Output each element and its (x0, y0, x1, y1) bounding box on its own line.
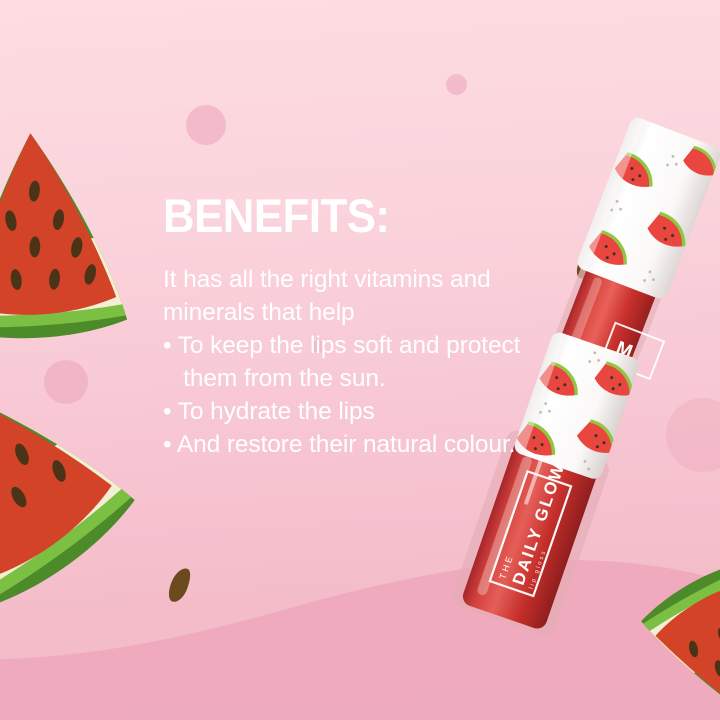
benefit-line: minerals that help (163, 296, 563, 329)
benefits-poster: M (0, 0, 720, 720)
decorative-circle-2 (446, 74, 467, 95)
benefit-line: • To keep the lips soft and protect (163, 329, 563, 362)
copy-block: BENEFITS: It has all the right vitamins … (163, 192, 563, 461)
benefit-line: them from the sun. (163, 362, 563, 395)
benefits-list: It has all the right vitamins and minera… (163, 263, 563, 461)
page-title: BENEFITS: (163, 192, 535, 239)
benefit-line: • To hydrate the lips (163, 395, 563, 428)
decorative-circle-1 (186, 105, 226, 145)
benefit-line: It has all the right vitamins and (163, 263, 563, 296)
benefit-line: • And restore their natural colour. (163, 428, 563, 461)
